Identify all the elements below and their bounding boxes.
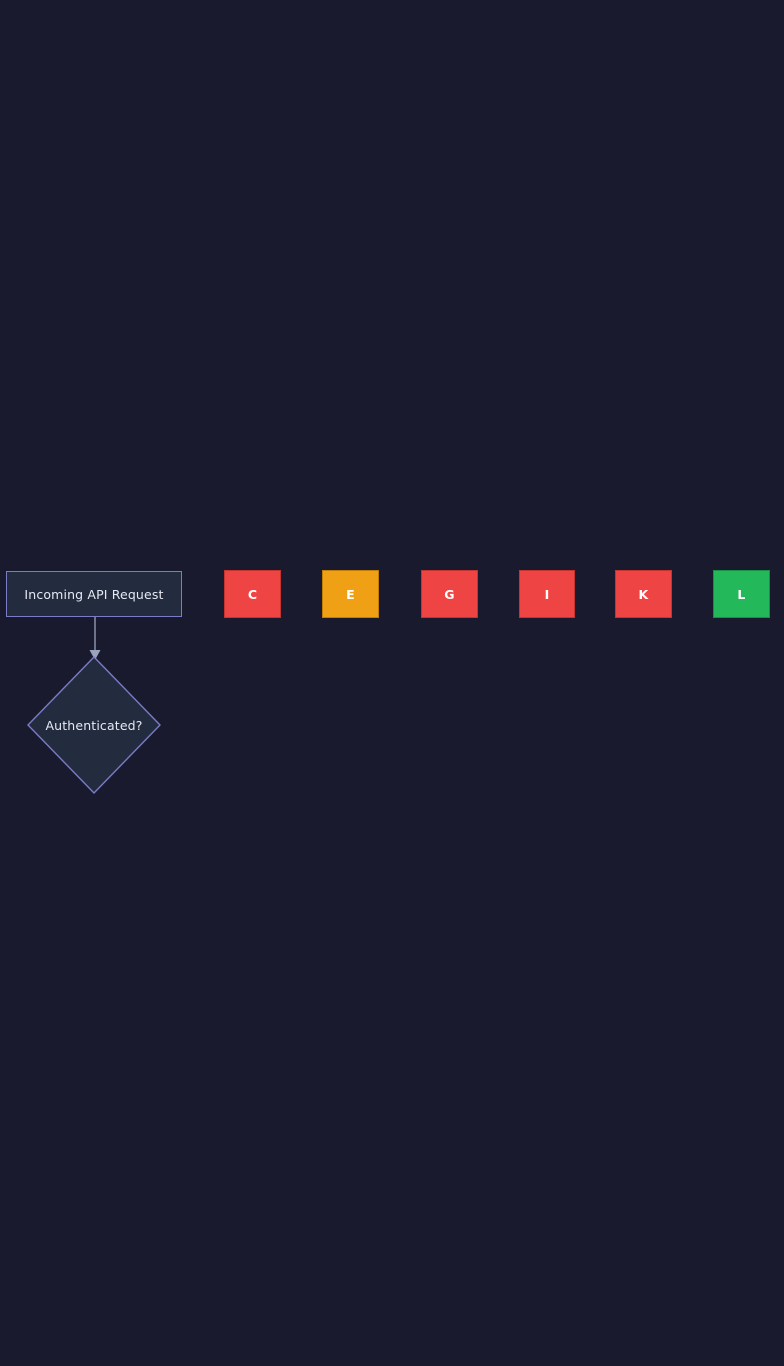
step-box-c-label: C (248, 587, 257, 602)
step-box-l-label: L (737, 587, 745, 602)
node-incoming-api-request[interactable]: Incoming API Request (6, 571, 182, 617)
flowchart-canvas: Incoming API Request Authenticated? C E … (0, 0, 784, 1366)
step-box-e-label: E (346, 587, 355, 602)
step-box-k[interactable]: K (615, 570, 672, 618)
step-box-i-label: I (545, 587, 550, 602)
step-box-g[interactable]: G (421, 570, 478, 618)
node-incoming-api-request-label: Incoming API Request (24, 587, 163, 602)
diamond-shape-icon (27, 656, 161, 794)
step-box-k-label: K (639, 587, 649, 602)
step-box-i[interactable]: I (519, 570, 575, 618)
step-box-g-label: G (444, 587, 454, 602)
node-authenticated-decision[interactable]: Authenticated? (27, 656, 161, 794)
step-box-e[interactable]: E (322, 570, 379, 618)
step-box-l[interactable]: L (713, 570, 770, 618)
step-box-c[interactable]: C (224, 570, 281, 618)
